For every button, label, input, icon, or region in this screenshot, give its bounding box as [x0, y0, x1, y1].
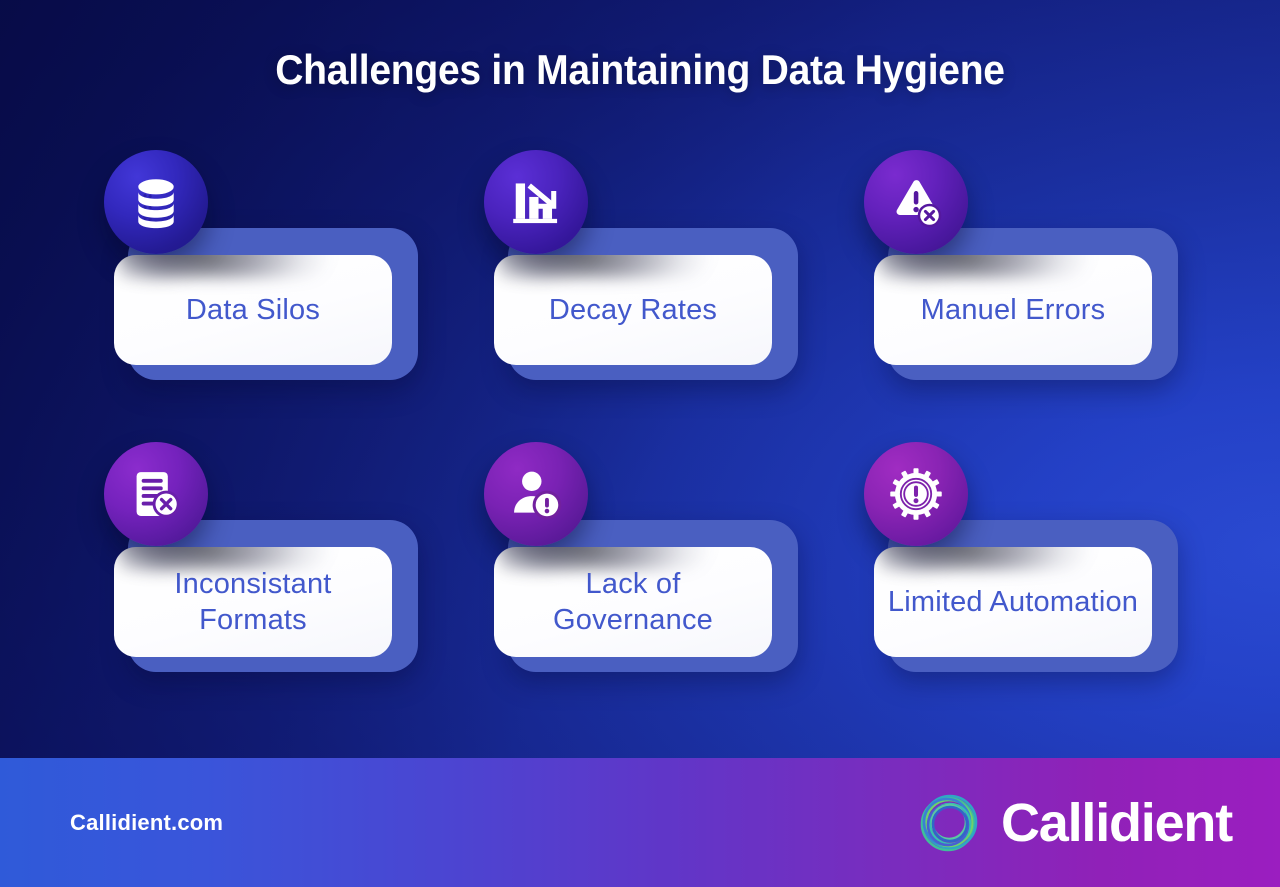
warning-triangle-x-icon: [864, 150, 968, 254]
document-x-icon: [104, 442, 208, 546]
footer-bar: Callidient.com Callidient: [0, 758, 1280, 887]
card-face: Data Silos: [114, 255, 392, 365]
challenge-card-inconsistant-formats[interactable]: Inconsistant Formats: [104, 442, 416, 734]
person-alert-icon: [484, 442, 588, 546]
brand-lockup: Callidient: [913, 787, 1232, 859]
card-face: Lack of Governance: [494, 547, 772, 657]
card-label: Inconsistant Formats: [114, 566, 392, 639]
database-icon: [104, 150, 208, 254]
challenge-card-data-silos[interactable]: Data Silos: [104, 150, 416, 442]
challenge-card-manuel-errors[interactable]: Manuel Errors: [864, 150, 1176, 442]
card-label: Manuel Errors: [909, 292, 1118, 328]
challenge-card-lack-of-governance[interactable]: Lack of Governance: [484, 442, 796, 734]
footer-website-url[interactable]: Callidient.com: [70, 810, 223, 836]
card-label: Limited Automation: [876, 584, 1150, 620]
card-face: Decay Rates: [494, 255, 772, 365]
brand-name: Callidient: [1001, 792, 1232, 854]
gear-alert-icon: [864, 442, 968, 546]
card-label: Lack of Governance: [494, 566, 772, 639]
declining-bar-chart-icon: [484, 150, 588, 254]
infographic-poster: Challenges in Maintaining Data Hygiene D…: [0, 0, 1280, 887]
challenge-card-limited-automation[interactable]: Limited Automation: [864, 442, 1176, 734]
card-label: Decay Rates: [537, 292, 729, 328]
challenge-card-decay-rates[interactable]: Decay Rates: [484, 150, 796, 442]
page-title: Challenges in Maintaining Data Hygiene: [45, 46, 1235, 94]
card-label: Data Silos: [174, 292, 332, 328]
card-face: Manuel Errors: [874, 255, 1152, 365]
challenge-card-grid: Data Silos Decay Rates: [104, 150, 1194, 734]
concentric-rings-logo-icon: [913, 787, 985, 859]
card-face: Limited Automation: [874, 547, 1152, 657]
card-face: Inconsistant Formats: [114, 547, 392, 657]
